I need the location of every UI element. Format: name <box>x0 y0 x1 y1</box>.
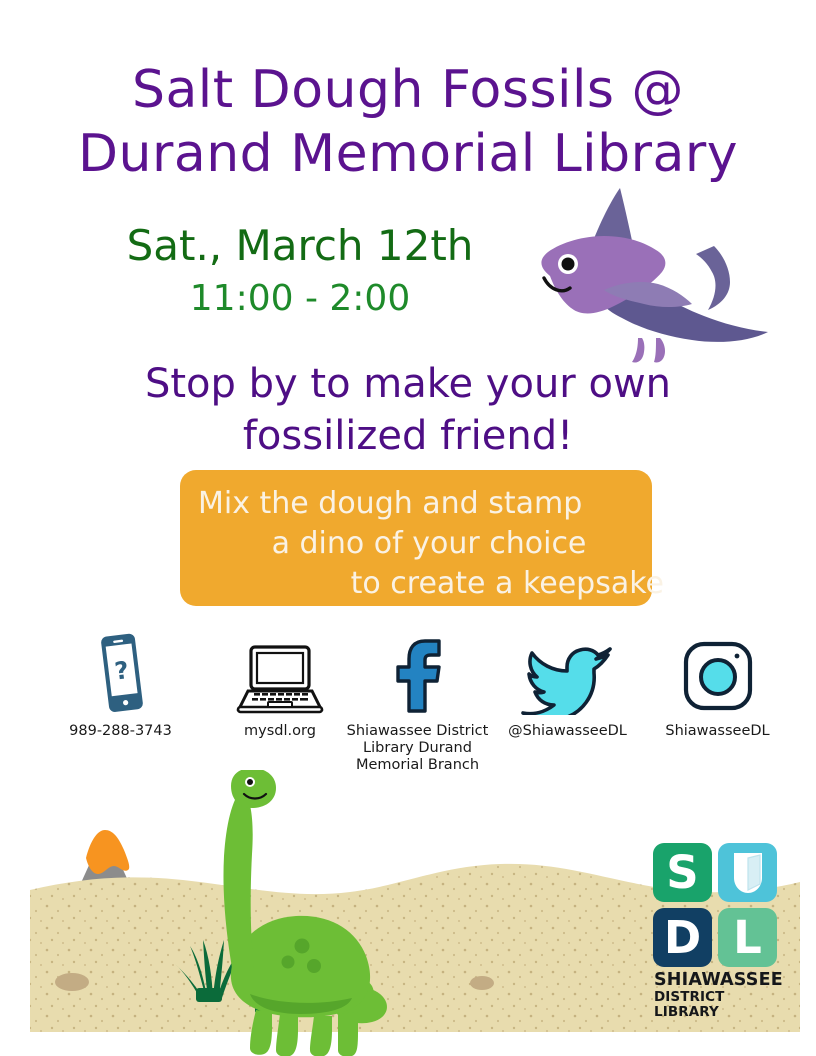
sdl-wordmark: SHIAWASSEE DISTRICT LIBRARY <box>654 971 782 1020</box>
instagram-icon <box>681 639 755 715</box>
pterodactyl-illustration <box>492 186 768 372</box>
message-line-2: fossilized friend! <box>243 413 573 459</box>
sdl-logo-grid: S D L <box>653 843 779 969</box>
instructions-callout: Mix the dough and stamp a dino of your c… <box>180 470 652 606</box>
instagram-icon-wrap <box>645 630 790 715</box>
instructions-text: Mix the dough and stamp a dino of your c… <box>194 484 664 604</box>
logo-letter-d: D <box>664 915 701 960</box>
facebook-label-line-2: Library Durand <box>363 740 472 756</box>
contact-item-instagram[interactable]: ShiawasseeDL <box>645 630 790 740</box>
event-time: 11:00 - 2:00 <box>90 278 510 320</box>
instructions-line-3: to create a keepsake <box>194 564 664 604</box>
contact-item-twitter[interactable]: @ShiawasseeDL <box>485 630 650 740</box>
contact-row: ? 989-288-3743 <box>0 630 816 790</box>
pebble <box>55 973 89 991</box>
title-line-1: Salt Dough Fossils @ <box>132 60 684 120</box>
smartphone-icon-wrap: ? <box>38 630 203 715</box>
instructions-line-1: Mix the dough and stamp <box>194 484 664 524</box>
sdl-wordmark-line-1: SHIAWASSEE <box>654 971 782 990</box>
contact-item-phone[interactable]: ? 989-288-3743 <box>38 630 203 740</box>
open-book-icon <box>728 850 768 896</box>
main-message: Stop by to make your own fossilized frie… <box>40 358 776 462</box>
facebook-icon <box>389 633 447 715</box>
contact-item-facebook[interactable]: Shiawassee District Library Durand Memor… <box>340 630 495 774</box>
message-line-1: Stop by to make your own <box>145 361 671 407</box>
contact-item-website[interactable]: mysdl.org <box>200 630 360 740</box>
website-label: mysdl.org <box>200 723 360 740</box>
event-date: Sat., March 12th <box>90 222 510 270</box>
twitter-icon-wrap <box>485 630 650 715</box>
logo-letter-s: S <box>666 850 698 895</box>
instructions-line-2: a dino of your choice <box>194 524 664 564</box>
poster-canvas: Salt Dough Fossils @ Durand Memorial Lib… <box>0 0 816 1056</box>
laptop-icon <box>236 643 324 715</box>
logo-letter-l: L <box>733 915 762 960</box>
twitter-handle-label: @ShiawasseeDL <box>485 723 650 740</box>
page-title: Salt Dough Fossils @ Durand Memorial Lib… <box>0 58 816 186</box>
sdl-logo: S D L SHIAWASSEE DISTRICT LIBRARY <box>653 843 783 1008</box>
logo-tile-book <box>718 843 777 902</box>
logo-tile-l: L <box>718 908 777 967</box>
facebook-icon-wrap <box>340 630 495 715</box>
twitter-icon <box>520 635 616 715</box>
instagram-handle-label: ShiawasseeDL <box>645 723 790 740</box>
sdl-wordmark-line-2: DISTRICT LIBRARY <box>654 990 782 1020</box>
pebble <box>470 976 494 990</box>
laptop-icon-wrap <box>200 630 360 715</box>
title-line-2: Durand Memorial Library <box>0 122 816 186</box>
smartphone-icon: ? <box>91 631 151 715</box>
phone-number-label: 989-288-3743 <box>38 723 203 740</box>
facebook-label-line-1: Shiawassee District <box>347 723 489 739</box>
facebook-label: Shiawassee District Library Durand Memor… <box>340 723 495 774</box>
logo-tile-s: S <box>653 843 712 902</box>
logo-tile-d: D <box>653 908 712 967</box>
